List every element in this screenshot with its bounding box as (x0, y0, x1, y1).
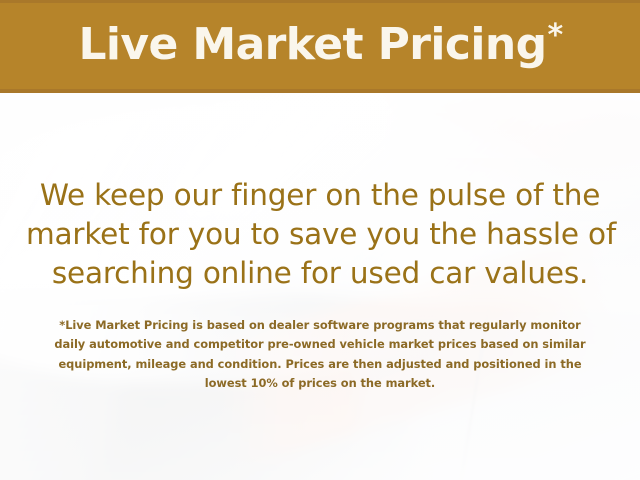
disclaimer-line-1: *Live Market Pricing is based on dealer … (26, 316, 614, 335)
disclaimer-line-4: lowest 10% of prices on the market. (26, 374, 614, 393)
headline-line-3: searching online for used car values. (26, 254, 614, 293)
disclaimer-footnote: *Live Market Pricing is based on dealer … (0, 316, 640, 394)
headline: We keep our finger on the pulse of the m… (0, 176, 640, 293)
live-market-pricing-promo: Live Market Pricing* We keep our finger … (0, 0, 640, 480)
content-area: We keep our finger on the pulse of the m… (0, 0, 640, 480)
headline-line-1: We keep our finger on the pulse of the (26, 176, 614, 215)
headline-line-2: market for you to save you the hassle of (26, 215, 614, 254)
disclaimer-line-3: equipment, mileage and condition. Prices… (26, 355, 614, 374)
disclaimer-line-2: daily automotive and competitor pre-owne… (26, 335, 614, 354)
